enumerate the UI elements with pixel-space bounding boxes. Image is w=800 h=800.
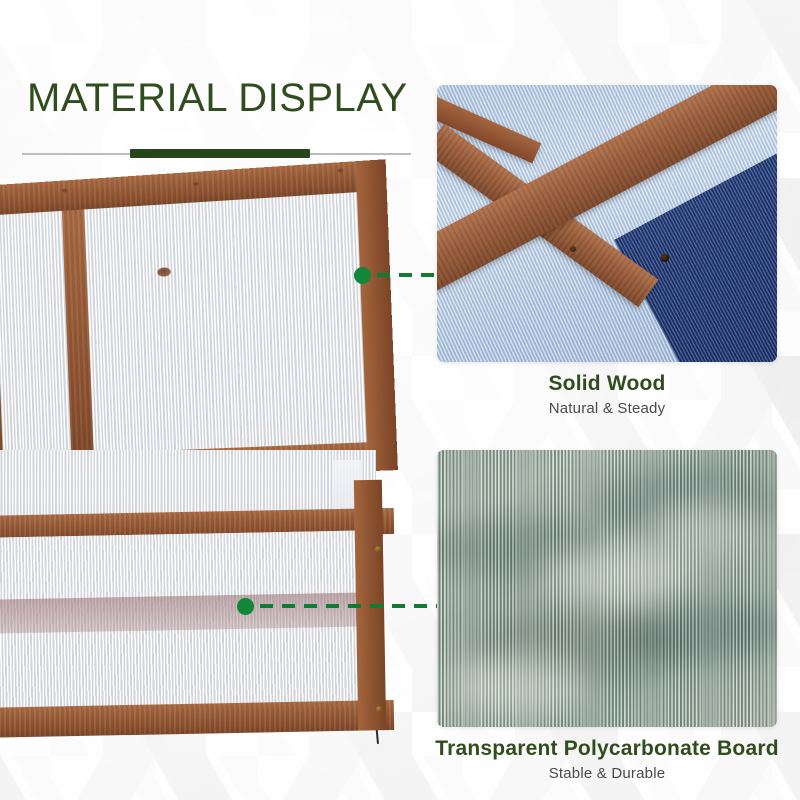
material-display-banner: MATERIAL DISPLAY (0, 0, 800, 800)
callout-dot-icon-polycarbonate (237, 598, 254, 615)
callout-dot-icon-solid-wood (354, 267, 371, 284)
screw-head (376, 706, 382, 712)
title-underline-accent (130, 149, 310, 158)
caption-polycarbonate: Transparent Polycarbonate Board Stable &… (417, 737, 797, 782)
caption-solid-wood: Solid Wood Natural & Steady (437, 372, 777, 417)
polycarbonate-closeup-scene (437, 450, 777, 727)
feature-photo-polycarbonate (437, 450, 777, 727)
screw-hole-icon (570, 246, 576, 252)
wood-closeup-scene (437, 85, 777, 362)
caption-subtitle-polycarbonate: Stable & Durable (417, 765, 797, 782)
title-underline (22, 149, 411, 158)
caption-title-polycarbonate: Transparent Polycarbonate Board (417, 737, 797, 761)
cold-frame-lid (0, 159, 398, 486)
caption-subtitle-solid-wood: Natural & Steady (437, 400, 777, 417)
lid-polycarbonate-panel (0, 175, 375, 462)
nail-head (338, 168, 343, 172)
nail-head (193, 182, 198, 186)
page-title: MATERIAL DISPLAY (27, 76, 408, 121)
screw-head (375, 546, 381, 552)
nail-head (62, 188, 67, 192)
dashed-connector-icon-polycarbonate (260, 604, 450, 608)
feature-photo-solid-wood (437, 85, 777, 362)
base-bottom-rail (0, 700, 394, 738)
cold-frame-base (0, 450, 410, 750)
polycarbonate-rib-texture (437, 450, 777, 727)
caption-title-solid-wood: Solid Wood (437, 372, 777, 396)
